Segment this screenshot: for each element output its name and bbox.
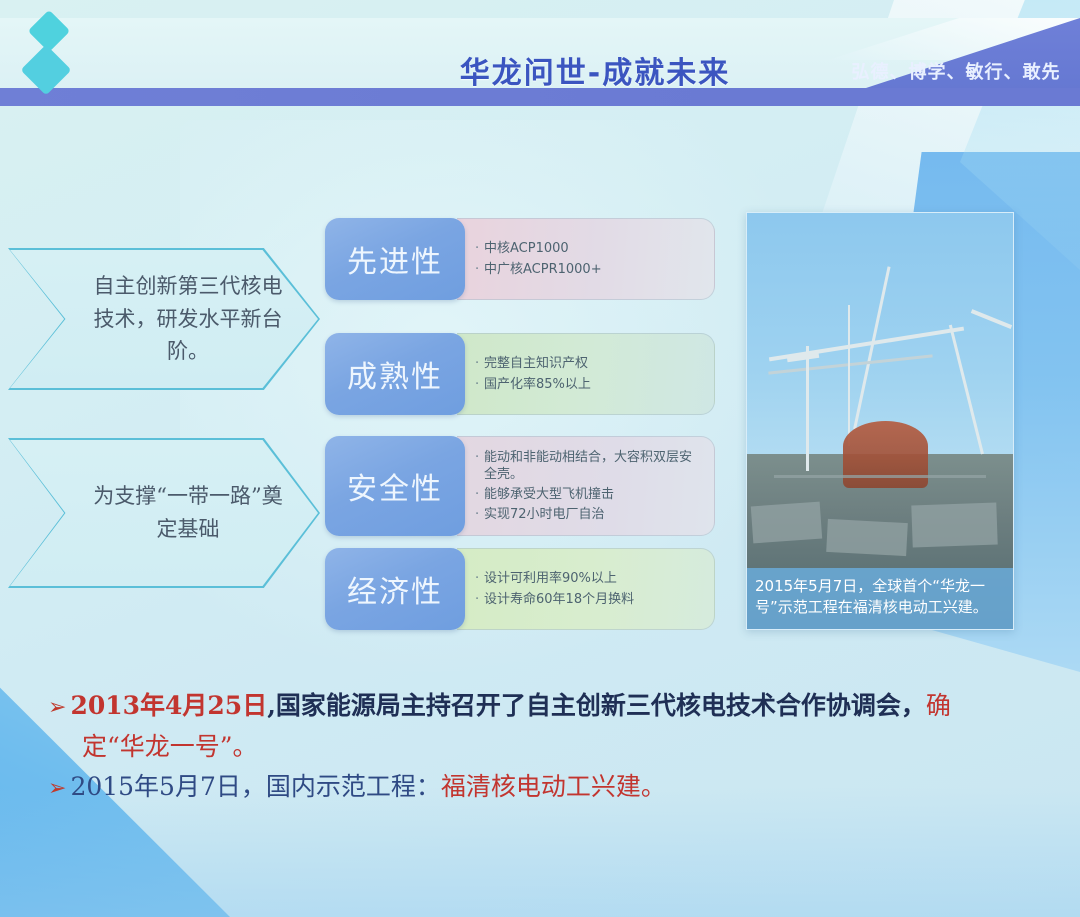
site-scaffold xyxy=(774,475,987,478)
feature-bullet-text: 设计寿命60年18个月换料 xyxy=(484,591,702,608)
feature-panel-safety: · 能动和非能动相结合，大容积双层安全壳。 · 能够承受大型飞机撞击 · 实现7… xyxy=(457,436,715,536)
feature-bullet: · 实现72小时电厂自治 xyxy=(475,506,702,523)
feature-row: 先进性 · 中核ACP1000 · 中广核ACPR1000+ xyxy=(325,218,715,300)
feature-bullet-text: 能够承受大型飞机撞击 xyxy=(484,486,702,503)
crane-cable-icon xyxy=(848,305,850,446)
slide-canvas: 华龙问世-成就未来 弘德、博学、敏行、敢先 自主创新第三代核电技术，研发水平新台… xyxy=(0,0,1080,917)
bullet-dot-icon: · xyxy=(475,240,484,257)
feature-bullet: · 中核ACP1000 xyxy=(475,240,702,257)
feature-bullet-text: 能动和非能动相结合，大容积双层安全壳。 xyxy=(484,449,702,483)
feature-row: 成熟性 · 完整自主知识产权 · 国产化率85%以上 xyxy=(325,333,715,415)
feature-panel-economy: · 设计可利用率90%以上 · 设计寿命60年18个月换料 xyxy=(457,548,715,630)
feature-panel-mature: · 完整自主知识产权 · 国产化率85%以上 xyxy=(457,333,715,415)
diamond-icon-bottom xyxy=(21,45,72,96)
chevron-label-1: 自主创新第三代核电技术，研发水平新台阶。 xyxy=(88,270,288,368)
bullet-dot-icon: · xyxy=(475,591,484,608)
bullet-dot-icon: · xyxy=(475,449,484,466)
bullet-dot-icon: · xyxy=(475,376,484,393)
feature-bullet-text: 完整自主知识产权 xyxy=(484,355,702,372)
feature-bullet-text: 实现72小时电厂自治 xyxy=(484,506,702,523)
bottom-text-block: ➢2013年4月25日,国家能源局主持召开了自主创新三代核电技术合作协调会，确 … xyxy=(48,686,1048,808)
slide-header: 华龙问世-成就未来 弘德、博学、敏行、敢先 xyxy=(0,0,1080,120)
feature-row: 安全性 · 能动和非能动相结合，大容积双层安全壳。 · 能够承受大型飞机撞击 ·… xyxy=(325,436,715,536)
bottom-line-3-highlight: 福清核电动工兴建。 xyxy=(441,772,666,801)
arrow-bullet-icon: ➢ xyxy=(48,695,66,720)
arrow-bullet-icon: ➢ xyxy=(48,776,66,801)
bottom-line-2: 定“华龙一号”。 xyxy=(48,727,1048,768)
bullet-dot-icon: · xyxy=(475,261,484,278)
bullet-dot-icon: · xyxy=(475,486,484,503)
feature-bullet: · 能够承受大型飞机撞击 xyxy=(475,486,702,503)
site-debris xyxy=(911,503,998,548)
page-title: 华龙问世-成就未来 xyxy=(380,48,810,92)
chevron-callout-2: 为支撑“一带一路”奠定基础 xyxy=(8,438,320,588)
chevron-callout-1: 自主创新第三代核电技术，研发水平新台阶。 xyxy=(8,248,320,390)
site-debris xyxy=(751,502,823,544)
bottom-line-3-body: ，国内示范工程： xyxy=(241,772,441,801)
feature-bullet: · 完整自主知识产权 xyxy=(475,355,702,372)
feature-bullet: · 中广核ACPR1000+ xyxy=(475,261,702,278)
feature-bullet-text: 中核ACP1000 xyxy=(484,240,702,257)
bottom-line-1: ➢2013年4月25日,国家能源局主持召开了自主创新三代核电技术合作协调会，确 xyxy=(48,686,1048,727)
bottom-line-3-date: 2015年5月7日 xyxy=(70,772,240,801)
diamond-icon-top xyxy=(28,10,70,52)
header-slogan: 弘德、博学、敏行、敢先 xyxy=(836,58,1076,84)
feature-label-mature: 成熟性 xyxy=(325,333,465,415)
construction-photo: 2015年5月7日，全球首个“华龙一号”示范工程在福清核电动工兴建。 xyxy=(746,212,1014,630)
feature-row: 经济性 · 设计可利用率90%以上 · 设计寿命60年18个月换料 xyxy=(325,548,715,630)
crane-tower-icon xyxy=(806,346,809,471)
bullet-dot-icon: · xyxy=(475,570,484,587)
feature-bullet: · 设计寿命60年18个月换料 xyxy=(475,591,702,608)
bottom-line-1-date: 2013年4月25日 xyxy=(70,691,267,720)
diamond-logo xyxy=(16,14,88,96)
feature-bullet-text: 中广核ACPR1000+ xyxy=(484,261,702,278)
feature-bullet: · 国产化率85%以上 xyxy=(475,376,702,393)
chevron-label-2: 为支撑“一带一路”奠定基础 xyxy=(88,480,288,545)
feature-label-safety: 安全性 xyxy=(325,436,465,536)
feature-label-economy: 经济性 xyxy=(325,548,465,630)
feature-label-advanced: 先进性 xyxy=(325,218,465,300)
bullet-dot-icon: · xyxy=(475,506,484,523)
feature-bullet-text: 国产化率85%以上 xyxy=(484,376,702,393)
photo-caption: 2015年5月7日，全球首个“华龙一号”示范工程在福清核电动工兴建。 xyxy=(747,568,1013,630)
feature-bullet: · 设计可利用率90%以上 xyxy=(475,570,702,587)
feature-bullet-text: 设计可利用率90%以上 xyxy=(484,570,702,587)
bullet-dot-icon: · xyxy=(475,355,484,372)
site-debris xyxy=(826,519,907,556)
bottom-line-2-text: 定“华龙一号”。 xyxy=(82,732,258,761)
bottom-line-3: ➢2015年5月7日，国内示范工程：福清核电动工兴建。 xyxy=(48,767,1048,808)
feature-bullet: · 能动和非能动相结合，大容积双层安全壳。 xyxy=(475,449,702,483)
bottom-line-1-body: ,国家能源局主持召开了自主创新三代核电技术合作协调会， xyxy=(267,691,926,720)
feature-panel-advanced: · 中核ACP1000 · 中广核ACPR1000+ xyxy=(457,218,715,300)
bottom-line-1-tail: 确 xyxy=(926,691,951,720)
